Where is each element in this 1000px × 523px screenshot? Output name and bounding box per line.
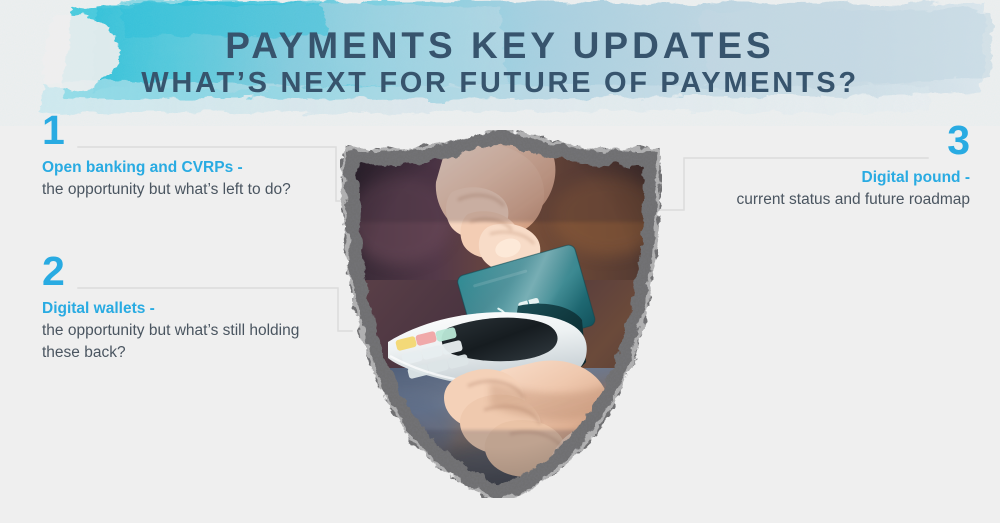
item-number-2: 2 [42,253,327,291]
list-item-3: 3 Digital pound - current status and fut… [690,122,970,211]
item-heading-1: Open banking and CVRPs - [42,159,243,176]
item-heading-3: Digital pound - [862,169,970,186]
list-item-1: 1 Open banking and CVRPs - the opportuni… [42,112,307,201]
item-heading-2: Digital wallets - [42,300,155,317]
item-text-1: Open banking and CVRPs - the opportunity… [42,157,307,201]
list-item-2: 2 Digital wallets - the opportunity but … [42,253,327,364]
shield-graphic [340,130,662,498]
item-body-2: the opportunity but what’s still holding… [42,322,299,361]
shield-border [340,130,662,498]
item-text-2: Digital wallets - the opportunity but wh… [42,298,327,364]
infographic-canvas: PAYMENTS KEY UPDATES WHAT’S NEXT FOR FUT… [0,0,1000,523]
item-body-3: current status and future roadmap [737,191,971,208]
item-number-3: 3 [690,122,970,160]
item-body-1: the opportunity but what’s left to do? [42,181,291,198]
item-number-1: 1 [42,112,307,150]
item-text-3: Digital pound - current status and futur… [690,167,970,211]
